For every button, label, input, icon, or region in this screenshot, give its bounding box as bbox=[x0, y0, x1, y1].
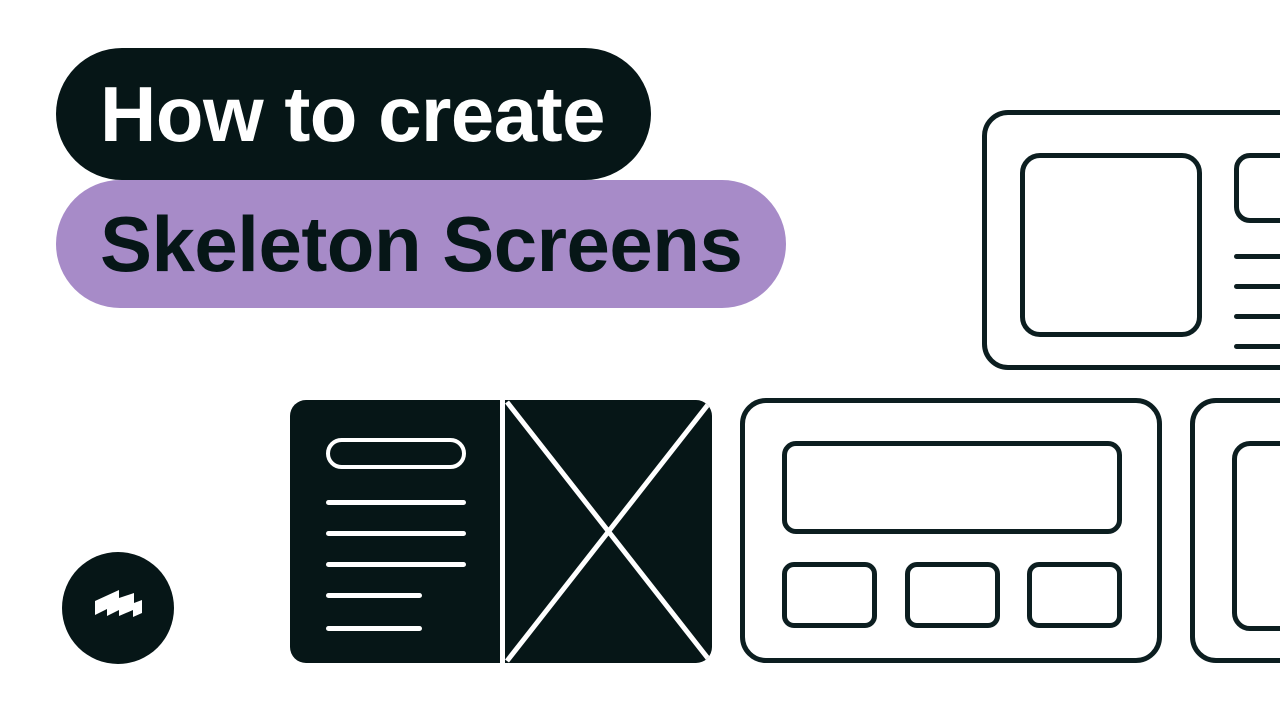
title-line-2: Skeleton Screens bbox=[100, 205, 742, 283]
text-line-placeholder bbox=[326, 593, 422, 598]
wireframe-card-dark-split[interactable] bbox=[290, 400, 712, 663]
text-line-placeholder bbox=[326, 626, 422, 631]
button-placeholder[interactable] bbox=[905, 562, 1000, 628]
text-panel bbox=[290, 400, 500, 663]
text-line-placeholder bbox=[1234, 284, 1280, 289]
text-line-placeholder bbox=[1234, 344, 1280, 349]
text-line-placeholder bbox=[1234, 314, 1280, 319]
thumbnail-placeholder bbox=[1020, 153, 1202, 337]
wireframe-card-button-grid[interactable] bbox=[740, 398, 1162, 663]
slide-canvas: How to create Skeleton Screens bbox=[0, 0, 1280, 720]
crossed-box-icon bbox=[505, 400, 712, 663]
banner-placeholder bbox=[782, 441, 1122, 534]
heading-block-placeholder bbox=[1234, 153, 1280, 223]
wireframe-card-right-clipped[interactable] bbox=[1190, 398, 1280, 663]
text-line-placeholder bbox=[326, 531, 466, 536]
text-line-placeholder bbox=[1234, 254, 1280, 259]
title-pill-purple: Skeleton Screens bbox=[56, 180, 786, 308]
block-placeholder bbox=[1232, 441, 1280, 631]
button-placeholder[interactable] bbox=[1027, 562, 1122, 628]
button-placeholder[interactable] bbox=[782, 562, 877, 628]
title-line-1: How to create bbox=[100, 75, 605, 153]
image-placeholder bbox=[505, 400, 712, 663]
title-pill-dark: How to create bbox=[56, 48, 651, 180]
text-line-placeholder bbox=[326, 500, 466, 505]
pill-button-placeholder bbox=[326, 438, 466, 469]
brand-logo[interactable] bbox=[62, 552, 174, 664]
text-line-placeholder bbox=[326, 562, 466, 567]
wireframe-card-top-right[interactable] bbox=[982, 110, 1280, 370]
button-row bbox=[782, 562, 1122, 628]
lightning-bolt-glitch-icon bbox=[89, 583, 147, 633]
text-column bbox=[1234, 153, 1280, 349]
